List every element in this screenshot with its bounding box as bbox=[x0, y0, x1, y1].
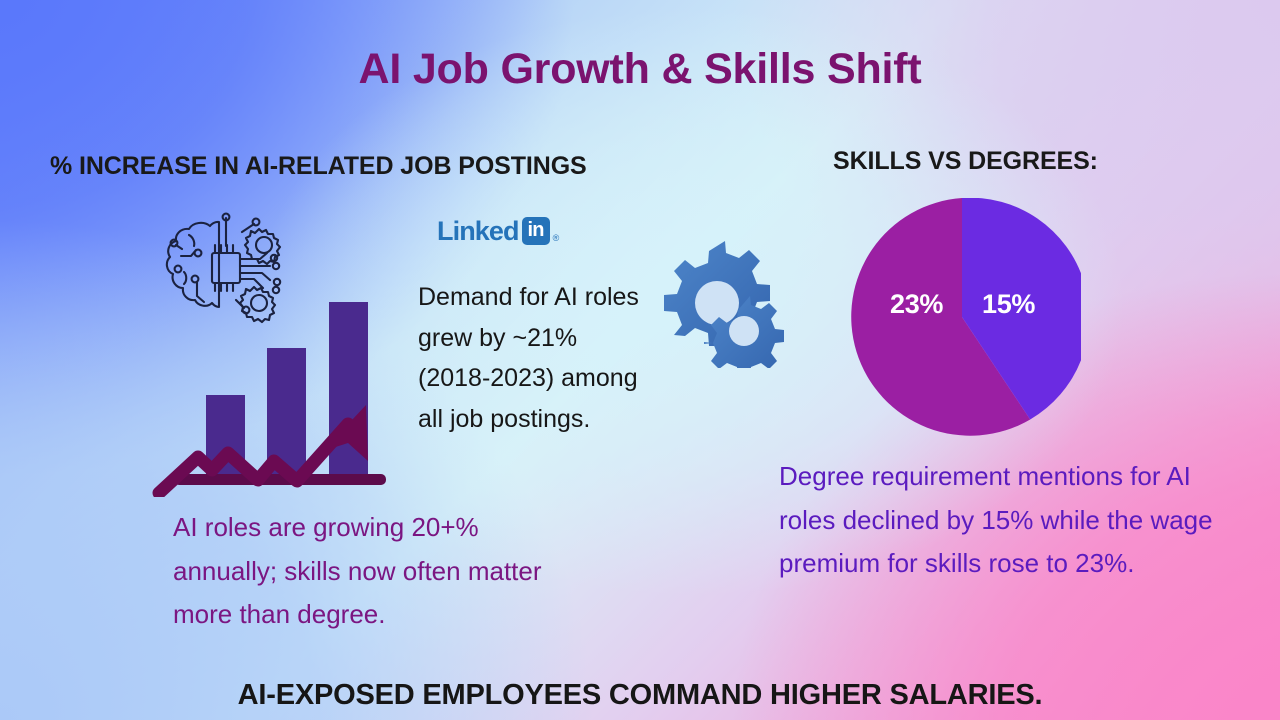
bar-chart-illustration bbox=[152, 212, 402, 497]
linkedin-logo: Linked in ® bbox=[437, 216, 559, 246]
pie-label-skills-premium: 23% bbox=[890, 289, 943, 320]
gears-icon bbox=[655, 233, 795, 368]
infographic-canvas: AI Job Growth & Skills Shift % INCREASE … bbox=[0, 0, 1280, 720]
ai-brain-circuit-icon bbox=[167, 214, 280, 322]
page-title: AI Job Growth & Skills Shift bbox=[0, 46, 1280, 93]
pie-label-degree-decline: 15% bbox=[982, 289, 1035, 320]
bottom-banner-text: AI-EXPOSED EMPLOYEES COMMAND HIGHER SALA… bbox=[0, 679, 1280, 712]
chart-baseline bbox=[174, 474, 386, 485]
skills-vs-degrees-pie-chart bbox=[843, 198, 1081, 436]
left-takeaway-text: AI roles are growing 20+% annually; skil… bbox=[173, 506, 585, 637]
linkedin-in-badge-icon: in bbox=[522, 217, 550, 245]
registered-trademark-mark: ® bbox=[553, 233, 560, 246]
left-section-heading: % INCREASE IN AI-RELATED JOB POSTINGS bbox=[50, 152, 587, 181]
linkedin-stat-text: Demand for AI roles grew by ~21% (2018-2… bbox=[418, 277, 654, 439]
right-section-heading: SKILLS VS DEGREES: bbox=[833, 147, 1098, 176]
linkedin-wordmark: Linked bbox=[437, 218, 519, 245]
right-takeaway-text: Degree requirement mentions for AI roles… bbox=[779, 455, 1249, 586]
